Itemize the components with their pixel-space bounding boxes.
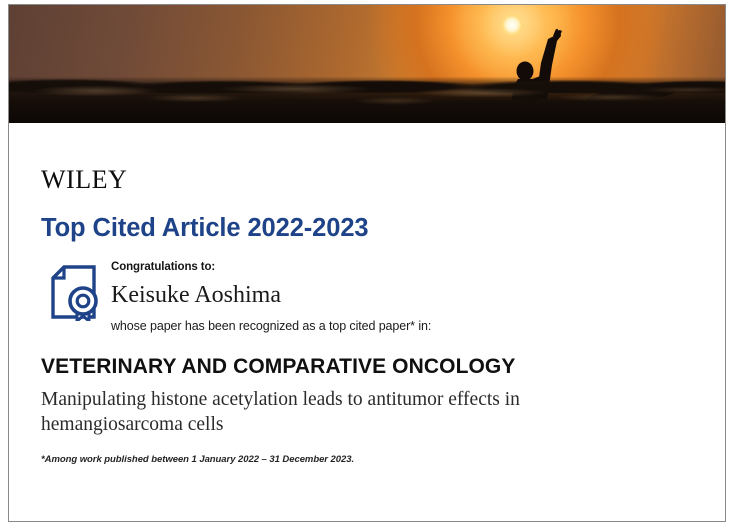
congratulations-label: Congratulations to: bbox=[111, 261, 431, 273]
recipient-name: Keisuke Aoshima bbox=[111, 282, 431, 308]
footnote: *Among work published between 1 January … bbox=[41, 454, 725, 465]
journal-name: VETERINARY AND COMPARATIVE ONCOLOGY bbox=[41, 355, 725, 379]
water-reflections bbox=[9, 77, 725, 123]
article-title: Manipulating histone acetylation leads t… bbox=[41, 388, 651, 438]
award-icon-svg bbox=[49, 263, 103, 321]
recognition-line: whose paper has been recognized as a top… bbox=[111, 319, 431, 333]
award-certificate-seal-icon bbox=[49, 263, 103, 321]
congratulations-block: Congratulations to: Keisuke Aoshima whos… bbox=[41, 259, 725, 333]
congratulations-text: Congratulations to: Keisuke Aoshima whos… bbox=[111, 259, 431, 333]
wiley-logo: Wiley bbox=[41, 158, 725, 195]
banner-photo bbox=[9, 5, 725, 123]
certificate-body: Wiley Top Cited Article 2022-2023 Congra… bbox=[9, 158, 725, 465]
page-title: Top Cited Article 2022-2023 bbox=[41, 214, 725, 243]
certificate-card: Wiley Top Cited Article 2022-2023 Congra… bbox=[8, 4, 726, 522]
